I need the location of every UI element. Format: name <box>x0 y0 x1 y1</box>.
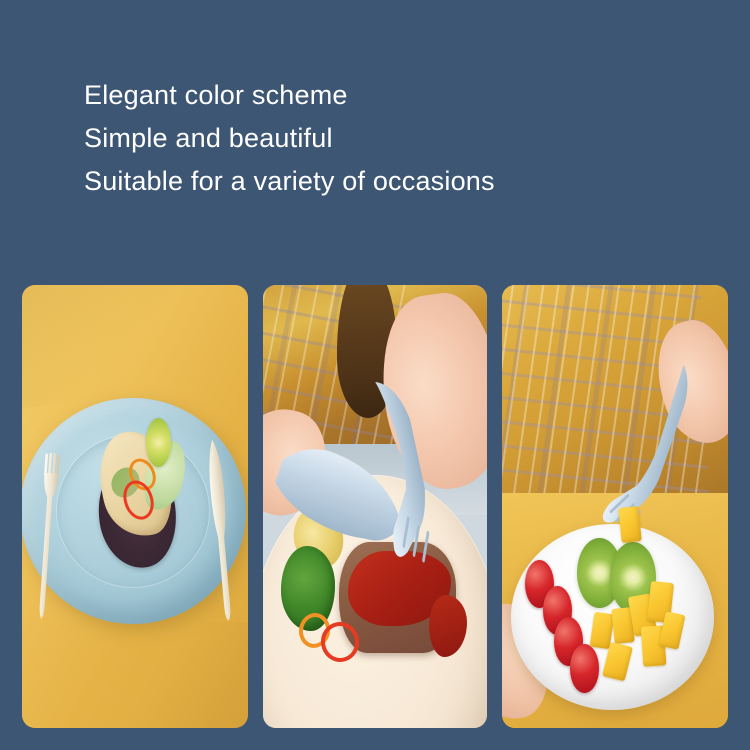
kiwi-garnish-slice <box>146 418 171 467</box>
cherry <box>570 644 599 693</box>
table-shading-secondary <box>135 622 248 728</box>
image-gallery <box>0 285 750 728</box>
headline-line-2: Simple and beautiful <box>84 117 704 160</box>
headline-line-3: Suitable for a variety of occasions <box>84 160 704 203</box>
headline-block: Elegant color scheme Simple and beautifu… <box>84 74 704 203</box>
gallery-panel-3[interactable] <box>502 285 728 728</box>
mango-cube-on-fork <box>618 506 642 543</box>
gallery-panel-2[interactable] <box>263 285 487 728</box>
gallery-panel-1[interactable] <box>22 285 248 728</box>
headline-line-1: Elegant color scheme <box>84 74 704 117</box>
